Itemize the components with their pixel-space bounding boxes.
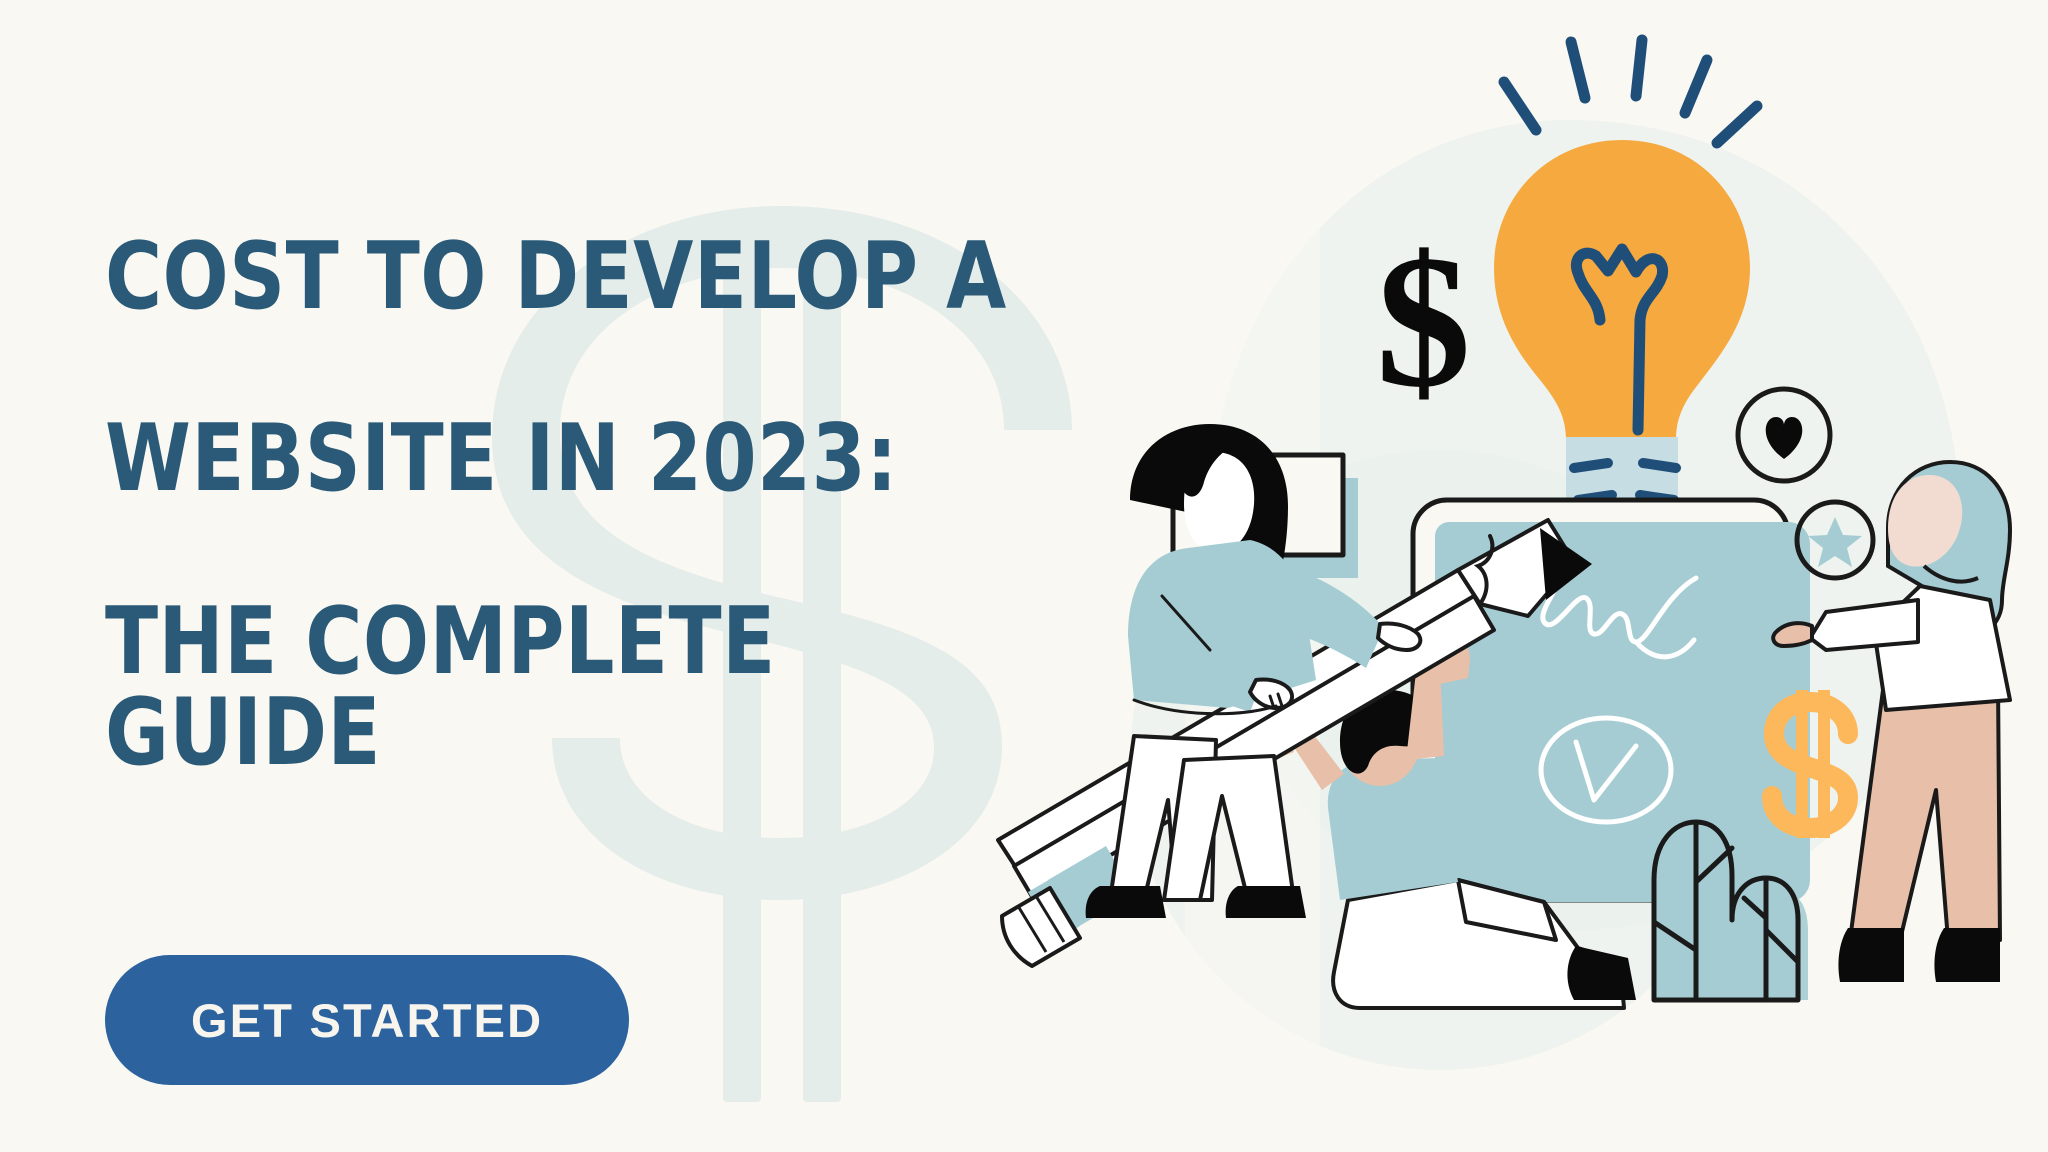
headline-line-1: COST TO DEVELOP A xyxy=(105,231,1035,322)
hero-text-column: COST TO DEVELOP A WEBSITE IN 2023: THE C… xyxy=(105,140,1105,1085)
heart-badge-icon xyxy=(1738,389,1830,481)
hero-illustration: $ xyxy=(988,0,2048,1152)
page-title: COST TO DEVELOP A WEBSITE IN 2023: THE C… xyxy=(105,140,1035,869)
cta-container: GET STARTED xyxy=(105,955,1105,1085)
light-bulb-icon xyxy=(1494,40,1757,572)
svg-text:$: $ xyxy=(1376,217,1471,427)
headline-line-3: THE COMPLETE GUIDE xyxy=(105,596,1035,778)
dollar-sign-black-icon: $ xyxy=(1376,217,1471,427)
get-started-button[interactable]: GET STARTED xyxy=(105,955,629,1085)
headline-line-2: WEBSITE IN 2023: xyxy=(105,413,1035,504)
banner-root: COST TO DEVELOP A WEBSITE IN 2023: THE C… xyxy=(0,0,2048,1152)
